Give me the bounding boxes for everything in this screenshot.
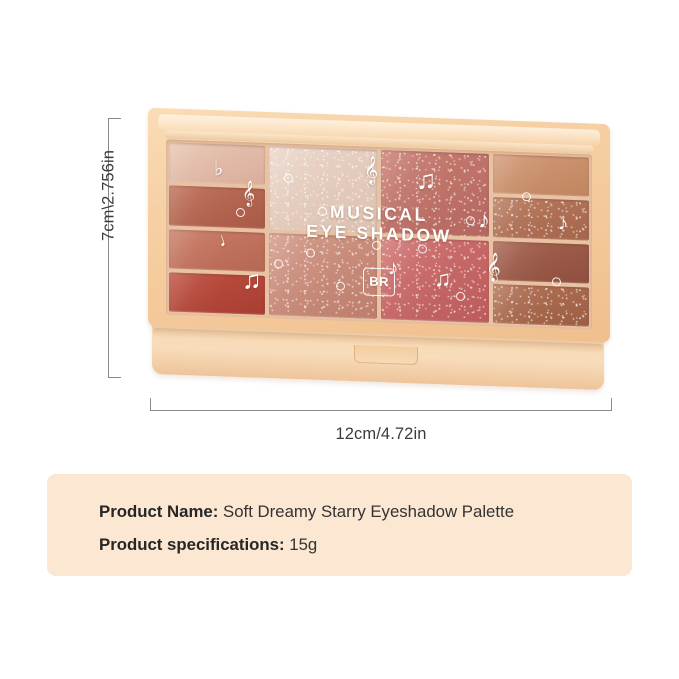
eyeshadow-pan-window [166,139,592,329]
pan-left-2 [169,186,265,229]
product-spec-label: Product specifications: [99,535,285,554]
height-dimension-label: 7cm\2.756in [100,131,119,261]
pan-right-2 [493,197,589,240]
pan-right-4 [493,284,589,327]
pan-left-3 [169,229,265,272]
compact-clasp [354,345,418,365]
product-info-box: Product Name: Soft Dreamy Starry Eyeshad… [47,474,632,576]
product-listing-image: 7cm\2.756in [0,0,679,679]
width-dimension-label: 12cm/4.72in [150,425,612,444]
product-name-label: Product Name: [99,502,218,521]
pan-left-4 [169,272,265,315]
pan-center-4 [381,237,489,323]
product-name-value: Soft Dreamy Starry Eyeshadow Palette [223,502,514,521]
product-name-line: Product Name: Soft Dreamy Starry Eyeshad… [99,496,632,529]
pan-right-3 [493,241,589,284]
pan-center-grid [269,146,489,323]
eyeshadow-palette-product: MUSICAL EYE SHADOW BR ♭ 𝄞 ♩ ♫ 𝄞 ♫ ♪ ♫ ♪ … [148,114,614,386]
pan-center-3 [269,233,377,319]
product-spec-value: 15g [289,535,317,554]
pan-column-right [493,154,589,326]
product-spec-line: Product specifications: 15g [99,529,632,562]
pan-column-center [269,146,489,323]
pan-center-1 [269,146,377,232]
width-dimension-bracket [150,398,612,411]
pan-center-2 [381,150,489,236]
pan-column-left [169,142,265,314]
pan-right-1 [493,154,589,197]
pan-left-1 [169,142,265,185]
